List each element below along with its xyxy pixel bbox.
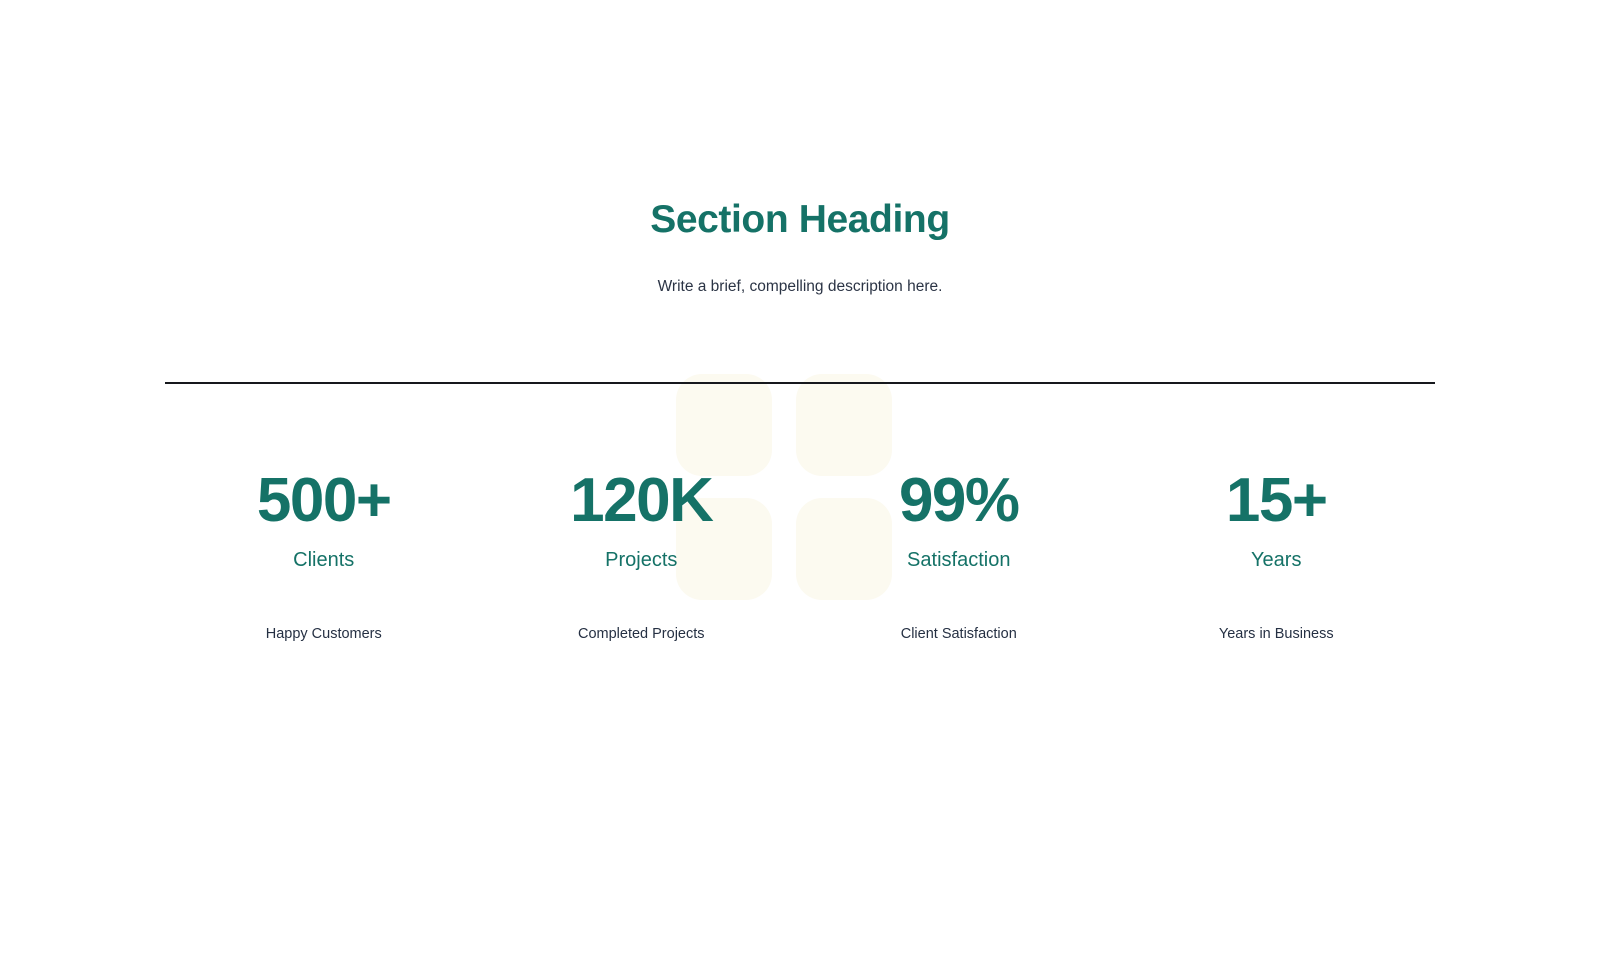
stats-section: Section Heading Write a brief, compellin… (0, 0, 1600, 978)
stat-label: Clients (165, 546, 483, 574)
stat-value: 500+ (165, 462, 483, 540)
stat-item-years: 15+ Years Years in Business (1118, 462, 1436, 644)
stat-sublabel: Years in Business (1118, 624, 1436, 644)
stat-item-projects: 120K Projects Completed Projects (483, 462, 801, 644)
stat-label: Projects (483, 546, 801, 574)
stat-label: Satisfaction (800, 546, 1118, 574)
stat-sublabel: Client Satisfaction (800, 624, 1118, 644)
divider (165, 382, 1435, 384)
stat-value: 15+ (1118, 462, 1436, 540)
stat-sublabel: Completed Projects (483, 624, 801, 644)
rounded-square-decor-icon (796, 374, 892, 476)
stat-value: 120K (483, 462, 801, 540)
stats-grid: 500+ Clients Happy Customers 120K Projec… (165, 462, 1435, 644)
rounded-square-decor-icon (676, 374, 772, 476)
page-title: Section Heading (0, 196, 1600, 244)
section-subtitle: Write a brief, compelling description he… (0, 276, 1600, 298)
stat-value: 99% (800, 462, 1118, 540)
stat-item-satisfaction: 99% Satisfaction Client Satisfaction (800, 462, 1118, 644)
stat-label: Years (1118, 546, 1436, 574)
stat-sublabel: Happy Customers (165, 624, 483, 644)
stat-item-clients: 500+ Clients Happy Customers (165, 462, 483, 644)
